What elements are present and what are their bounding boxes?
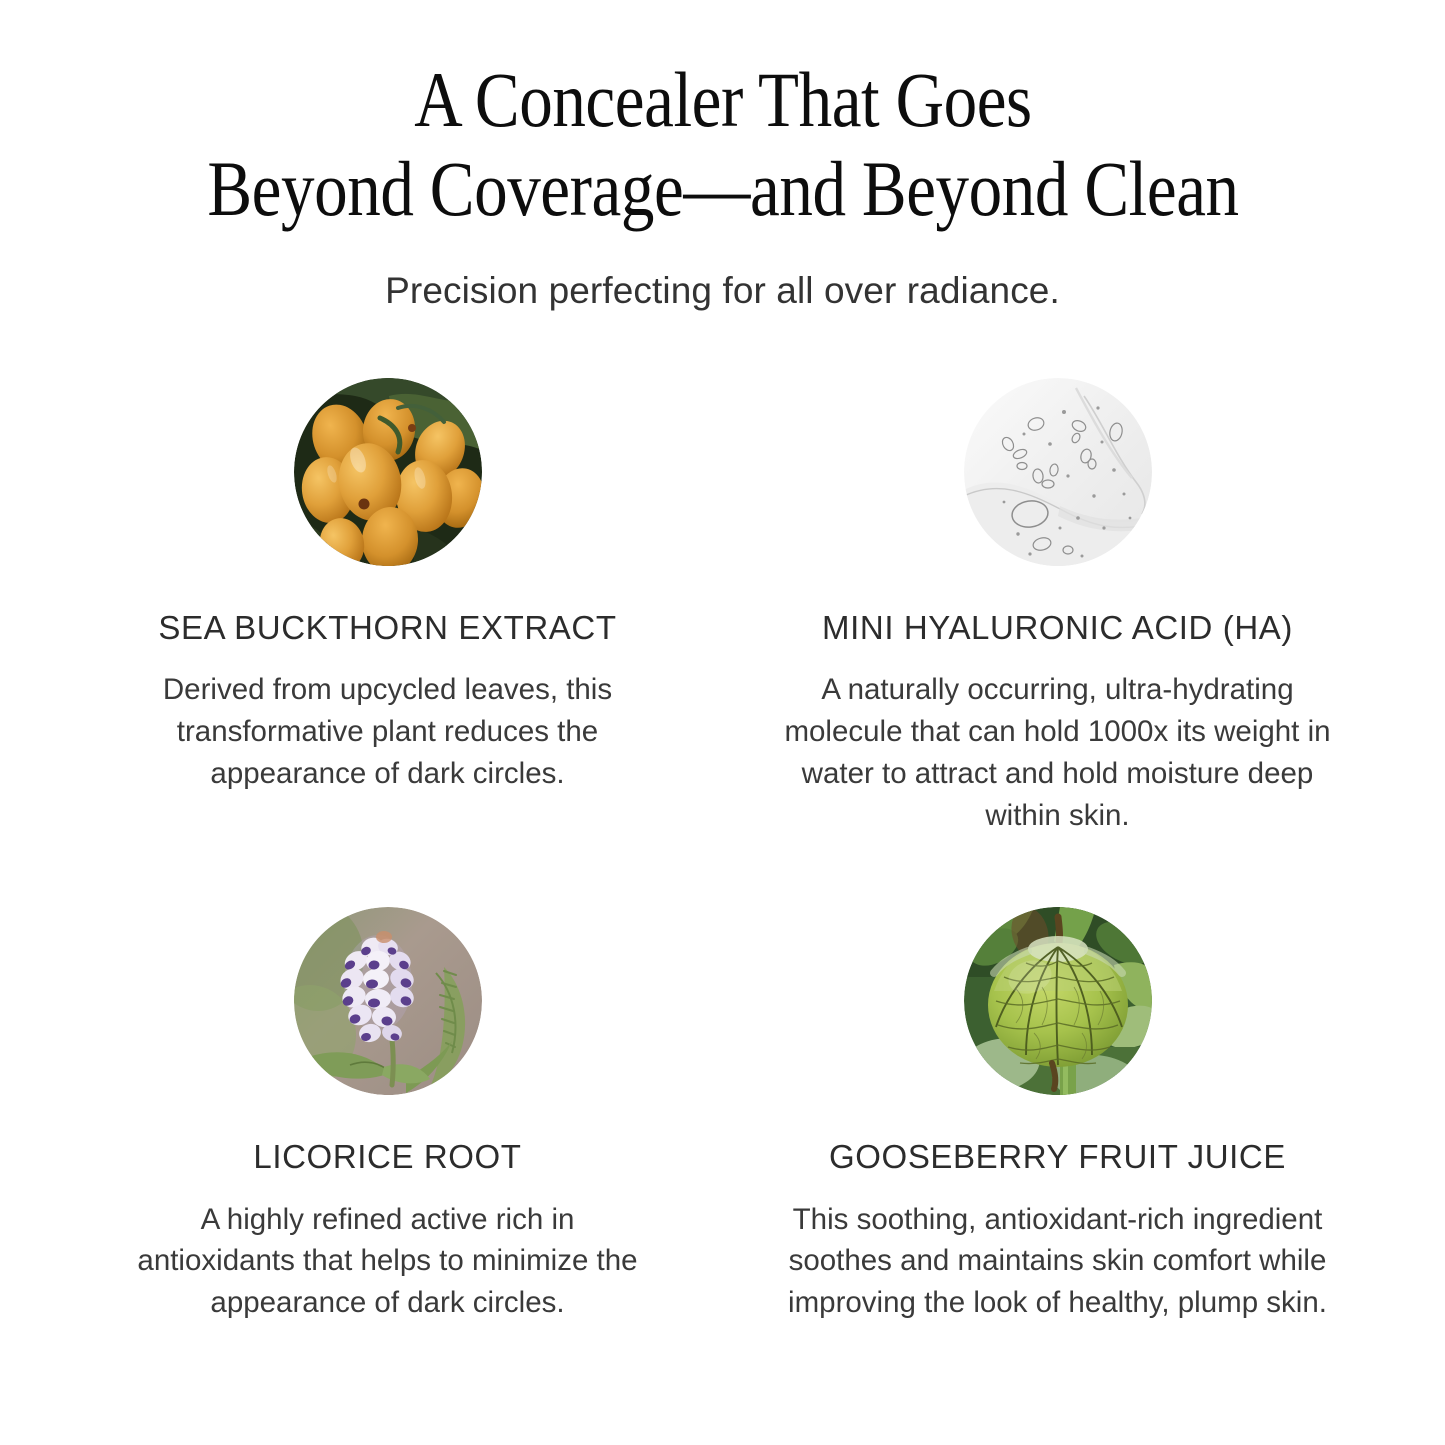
ingredient-card-gooseberry: GOOSEBERRY FRUIT JUICE This soothing, an… (723, 907, 1393, 1324)
ingredient-title: LICORICE ROOT (253, 1137, 521, 1177)
ingredient-description: A naturally occurring, ultra-hydrating m… (778, 669, 1338, 837)
ingredient-description: This soothing, antioxidant-rich ingredie… (778, 1199, 1338, 1325)
gooseberry-fruit-husk-photo (964, 907, 1152, 1095)
ingredient-title: SEA BUCKTHORN EXTRACT (158, 608, 616, 648)
ingredient-card-sea-buckthorn: SEA BUCKTHORN EXTRACT Derived from upcyc… (53, 378, 723, 837)
ingredient-title: MINI HYALURONIC ACID (HA) (822, 608, 1293, 648)
ingredient-grid: SEA BUCKTHORN EXTRACT Derived from upcyc… (53, 312, 1393, 1324)
sea-buckthorn-berries-photo (294, 378, 482, 566)
page-title-line-1: A Concealer That Goes (172, 56, 1273, 145)
ingredient-description: Derived from upcycled leaves, this trans… (128, 669, 648, 795)
page-title-line-2: Beyond Coverage—and Beyond Clean (172, 145, 1273, 234)
page-subtitle: Precision perfecting for all over radian… (0, 270, 1445, 312)
ingredient-card-hyaluronic-acid: MINI HYALURONIC ACID (HA) A naturally oc… (723, 378, 1393, 837)
header: A Concealer That Goes Beyond Coverage—an… (0, 0, 1445, 312)
page-title: A Concealer That Goes Beyond Coverage—an… (172, 56, 1273, 234)
ingredient-description: A highly refined active rich in antioxid… (128, 1199, 648, 1325)
ingredient-title: GOOSEBERRY FRUIT JUICE (829, 1137, 1286, 1177)
ingredient-card-licorice-root: LICORICE ROOT A highly refined active ri… (53, 907, 723, 1324)
hyaluronic-acid-gel-texture-photo (964, 378, 1152, 566)
licorice-root-flower-photo (294, 907, 482, 1095)
ingredient-benefits-infographic: A Concealer That Goes Beyond Coverage—an… (0, 0, 1445, 1445)
